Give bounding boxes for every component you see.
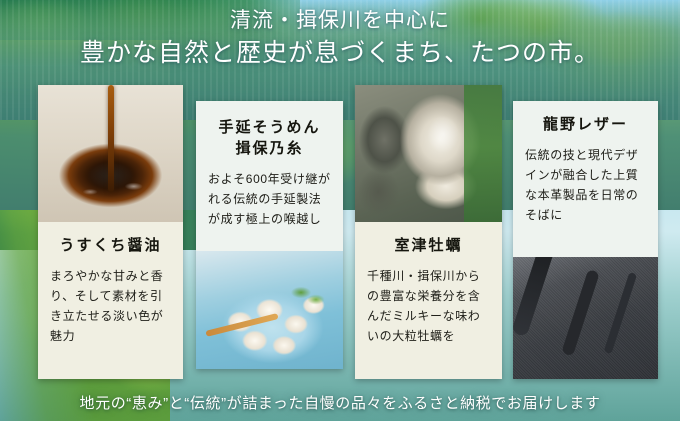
oysters-photo [355,85,502,222]
product-card-tatsuno-leather[interactable]: 龍野レザー 伝統の技と現代デザインが融合した上質な本革製品を日常のそばに [513,101,658,379]
card-body: 室津牡蠣 千種川・揖保川からの豊富な栄養分を含んだミルキーな味わいの大粒牡蠣を [355,222,502,379]
somen-noodles-photo [196,251,343,369]
leather-bag-photo [513,257,658,379]
product-card-usukuchi-shoyu[interactable]: うすくち醤油 まろやかな甘みと香り、そして素材を引き立たせる淡い色が魅力 [38,85,183,379]
promo-poster: 清流・揖保川を中心に 豊かな自然と歴史が息づくまち、たつの市。 うすくち醤油 ま… [0,0,680,421]
card-title-line-2: 揖保乃糸 [208,138,331,159]
card-title: 龍野レザー [525,114,646,135]
card-body: 龍野レザー 伝統の技と現代デザインが融合した上質な本革製品を日常のそばに [513,101,658,257]
card-description: まろやかな甘みと香り、そして素材を引き立たせる淡い色が魅力 [50,266,171,346]
product-card-murotsu-kaki[interactable]: 室津牡蠣 千種川・揖保川からの豊富な栄養分を含んだミルキーな味わいの大粒牡蠣を [355,85,502,379]
card-title-line-1: 手延そうめん [208,117,331,138]
card-title: 室津牡蠣 [367,235,490,256]
card-description: 千種川・揖保川からの豊富な栄養分を含んだミルキーな味わいの大粒牡蠣を [367,266,490,346]
card-body: 手延そうめん 揖保乃糸 およそ600年受け継がれる伝統の手延製法が成す極上の喉越… [196,101,343,251]
card-title: 手延そうめん 揖保乃糸 [208,117,331,159]
card-body: うすくち醤油 まろやかな甘みと香り、そして素材を引き立たせる淡い色が魅力 [38,222,183,379]
product-card-tenobe-somen[interactable]: 手延そうめん 揖保乃糸 およそ600年受け継がれる伝統の手延製法が成す極上の喉越… [196,101,343,369]
card-description: 伝統の技と現代デザインが融合した上質な本革製品を日常のそばに [525,145,646,225]
card-title: うすくち醤油 [50,235,171,256]
card-description: およそ600年受け継がれる伝統の手延製法が成す極上の喉越し [208,169,331,229]
soy-sauce-pour-photo [38,85,183,222]
